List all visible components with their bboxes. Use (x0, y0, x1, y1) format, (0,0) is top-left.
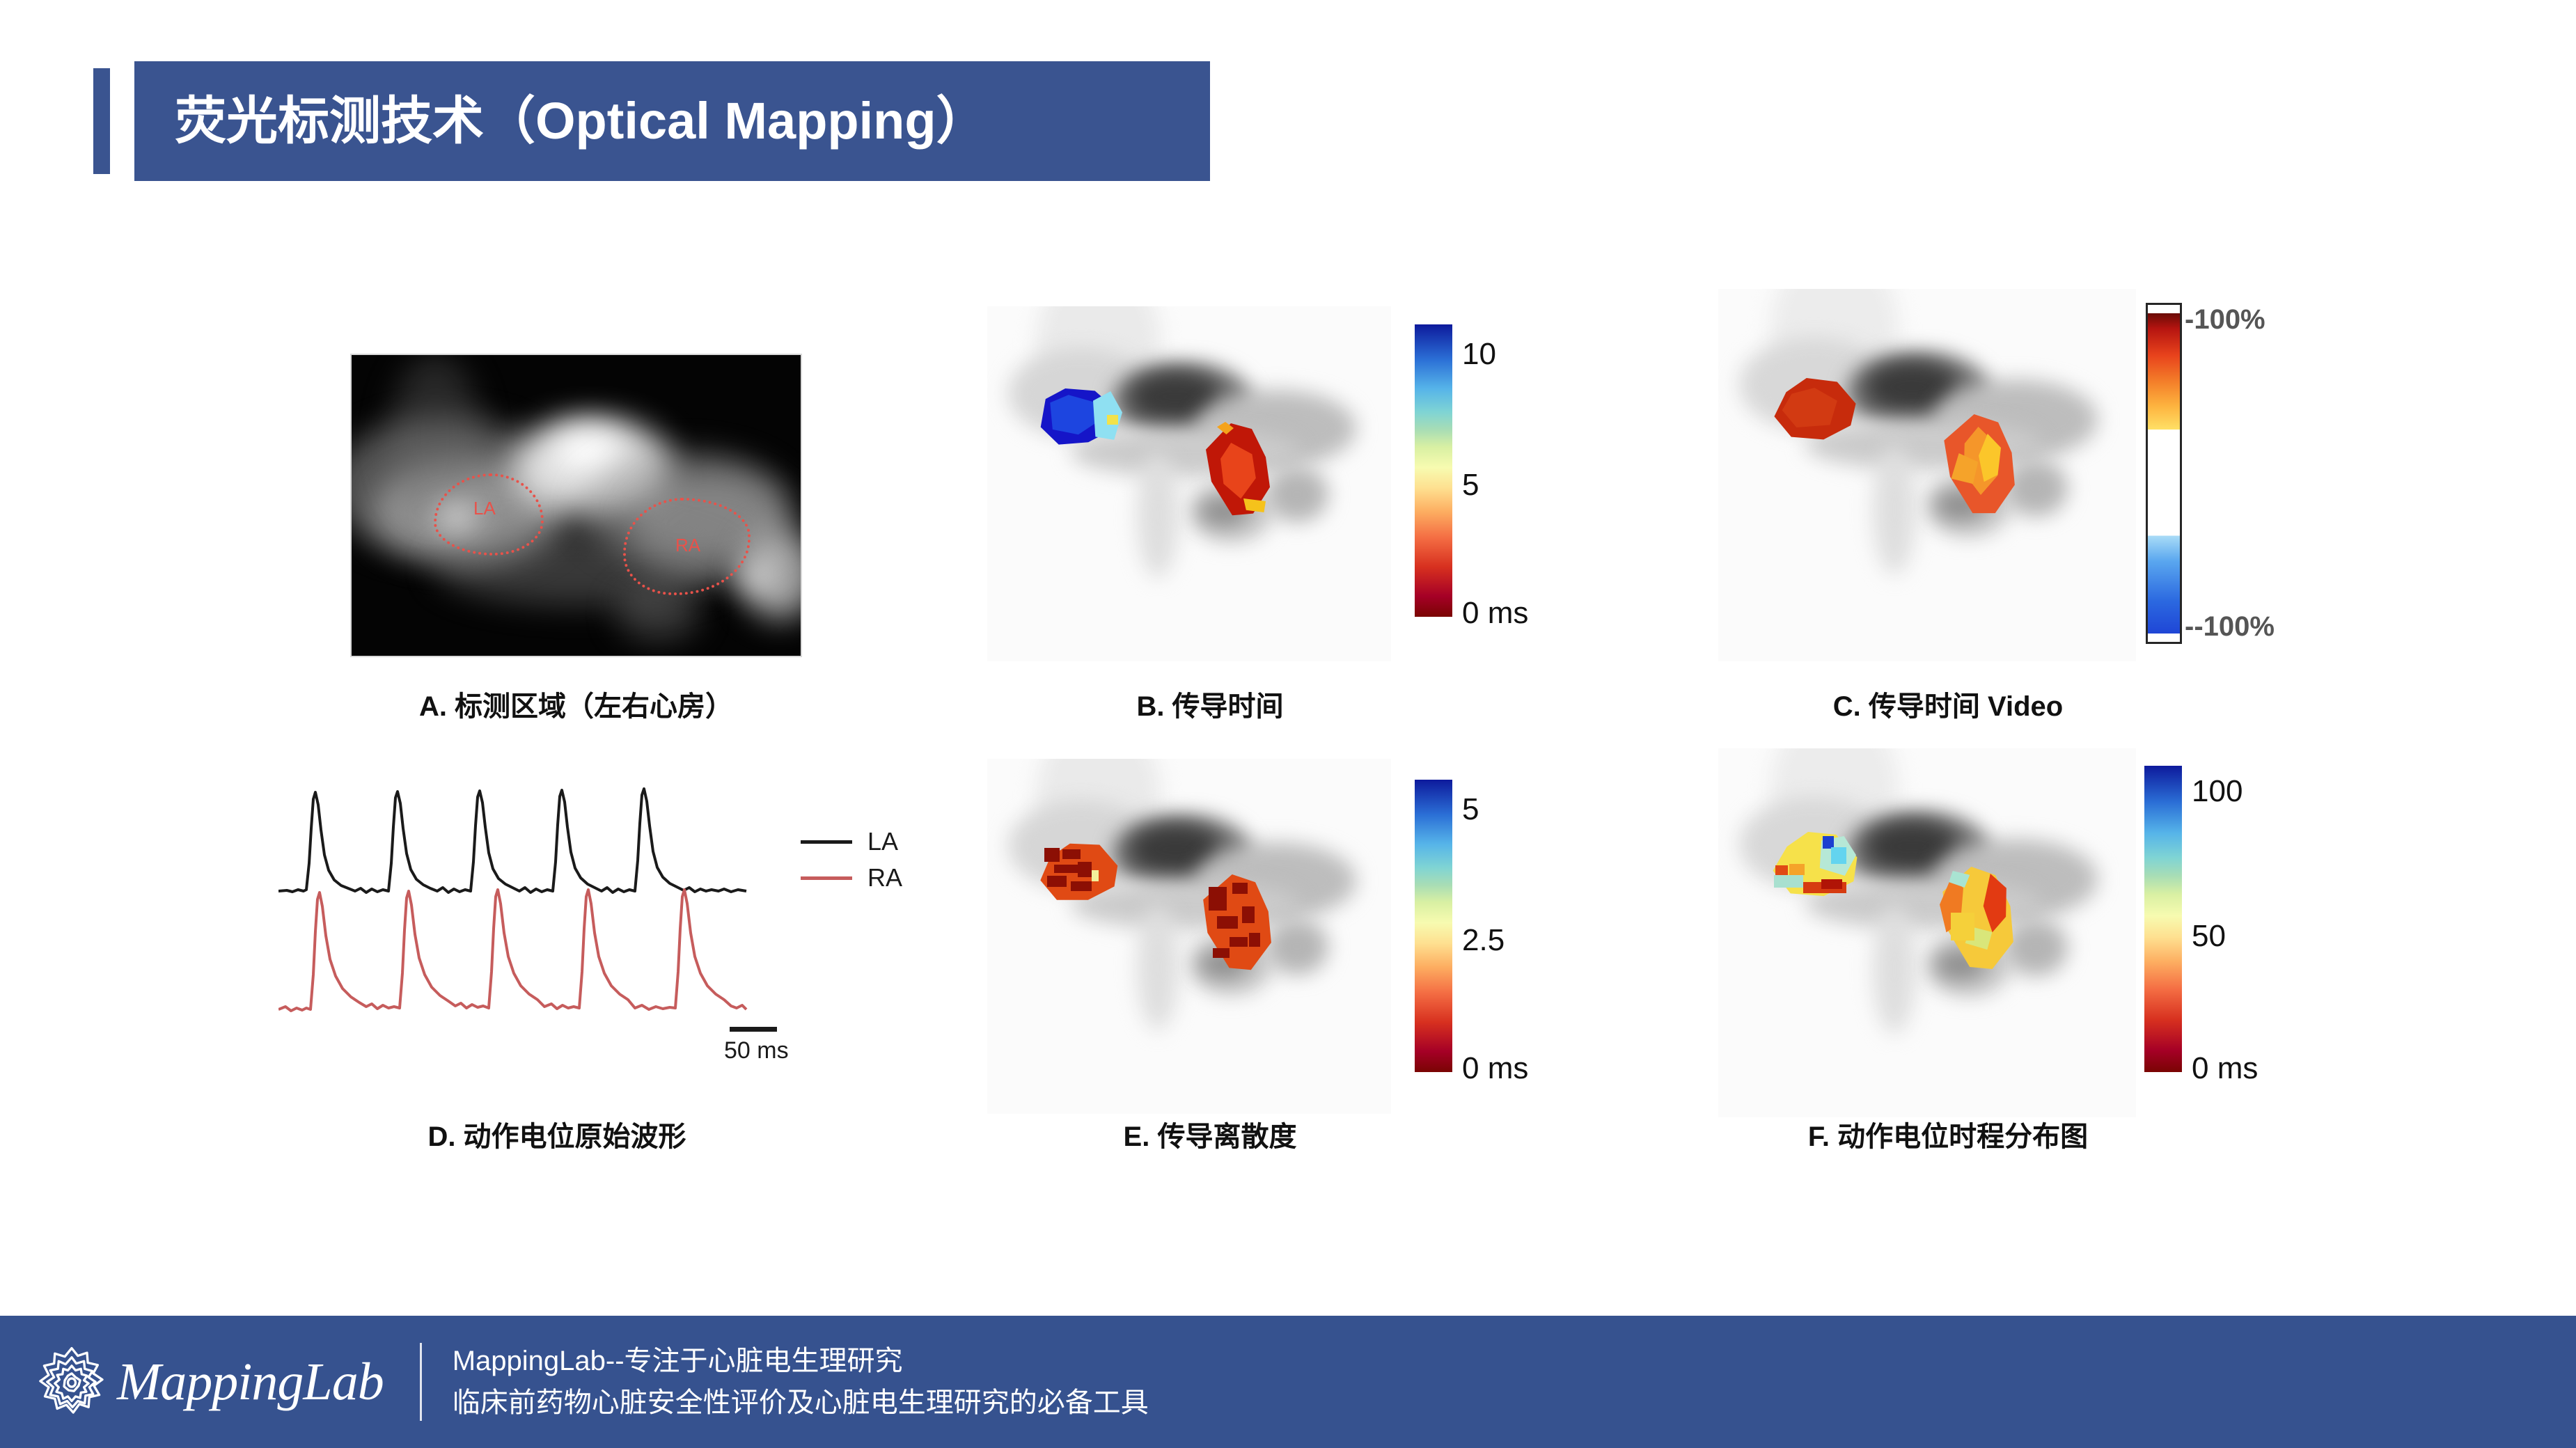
legend-line-la (801, 840, 852, 844)
panel-b-colorbar (1415, 324, 1452, 617)
panel-d-scalebar (730, 1027, 777, 1032)
legend-item-ra: RA (801, 863, 902, 892)
panel-b-colorbar-gradient (1415, 324, 1452, 617)
panel-f-colorbar-gradient (2144, 766, 2182, 1072)
panel-b-tick-min: 0 ms (1462, 596, 1528, 631)
footer-brand-name: MappingLab (117, 1352, 384, 1412)
panel-a-image: LA RA (352, 355, 801, 656)
panel-e-colorbar-gradient (1415, 780, 1452, 1072)
panel-a-caption: A. 标测区域（左右心房） (352, 684, 801, 724)
footer-taglines: MappingLab--专注于心脏电生理研究 临床前药物心脏安全性评价及心脏电生… (453, 1345, 1149, 1419)
panel-f-caption: F. 动作电位时程分布图 (1718, 1114, 2178, 1154)
footer-divider (420, 1343, 422, 1421)
panel-c-tick-min: --100% (2185, 611, 2275, 643)
panel-b-tick-mid: 5 (1462, 468, 1479, 503)
panel-b-tick-max: 10 (1462, 337, 1496, 372)
legend-line-ra (801, 876, 852, 880)
panel-e-tick-mid: 2.5 (1462, 923, 1505, 958)
mappinglab-burst-icon (33, 1344, 110, 1420)
footer-line-1: MappingLab--专注于心脏电生理研究 (453, 1345, 1149, 1377)
panel-e-tick-min: 0 ms (1462, 1051, 1528, 1086)
panel-d-traces (278, 787, 835, 1044)
panel-f-colorbar (2144, 766, 2182, 1072)
panel-b-image (987, 306, 1391, 661)
roi-la-label: LA (473, 498, 496, 519)
panel-e-colorbar (1415, 780, 1452, 1072)
footer-line-2: 临床前药物心脏安全性评价及心脏电生理研究的必备工具 (453, 1387, 1149, 1419)
legend-label-ra: RA (867, 863, 902, 892)
legend-item-la: LA (801, 827, 898, 856)
panel-f-tick-max: 100 (2192, 774, 2243, 809)
slide-root: 荧光标测技术（Optical Mapping） LA RA A. 标测区域（左右… (0, 0, 2576, 1448)
panel-d-caption: D. 动作电位原始波形 (278, 1114, 835, 1154)
page-title: 荧光标测技术（Optical Mapping） (134, 95, 988, 147)
panel-c-tick-max: -100% (2185, 304, 2265, 336)
trace-la (278, 789, 746, 892)
slide-title-bar: 荧光标测技术（Optical Mapping） (134, 61, 1210, 181)
legend-label-la: LA (867, 827, 898, 856)
trace-ra (278, 890, 746, 1011)
panel-e-image (987, 759, 1391, 1114)
panel-f-tick-mid: 50 (2192, 919, 2226, 954)
panel-d-scalebar-label: 50 ms (724, 1037, 789, 1064)
panel-c-image (1718, 289, 2136, 661)
panel-c-colorbar (2146, 303, 2182, 644)
panel-e-caption: E. 传导离散度 (987, 1114, 1433, 1154)
panel-c-caption: C. 传导时间 Video (1718, 684, 2178, 724)
title-accent-bar (93, 68, 110, 174)
roi-ra-label: RA (675, 535, 700, 556)
panel-f-image (1718, 748, 2136, 1117)
panel-e-tick-max: 5 (1462, 792, 1479, 827)
panel-f-tick-min: 0 ms (2192, 1051, 2258, 1086)
panel-b-caption: B. 传导时间 (987, 684, 1433, 724)
footer-bar: MappingLab MappingLab--专注于心脏电生理研究 临床前药物心… (0, 1316, 2576, 1448)
